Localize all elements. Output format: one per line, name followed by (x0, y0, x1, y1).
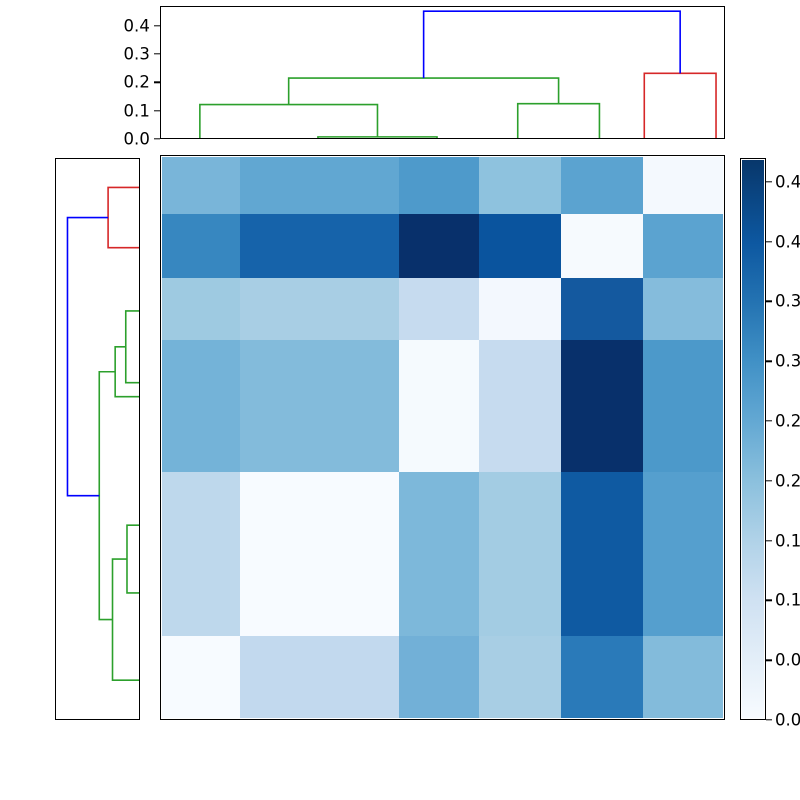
colorbar-tick-label: 0.10 (775, 591, 800, 610)
heatmap-cell (240, 340, 399, 472)
heatmap-cell (479, 214, 561, 278)
heatmap-cell (162, 472, 240, 636)
heatmap-cell (643, 472, 723, 636)
axis-tick-label: 0.1 (123, 101, 150, 120)
heatmap-cell (162, 157, 240, 214)
heatmap-cell (643, 636, 723, 717)
heatmap-cell (479, 340, 561, 472)
heatmap-cell (240, 636, 399, 717)
row-dendrogram-svg (56, 159, 139, 719)
colorbar-tick-mark (766, 540, 772, 541)
dendrogram-link (424, 11, 681, 78)
colorbar-tick-mark (766, 660, 772, 661)
heatmap-cell (399, 214, 479, 278)
heatmap-cell (399, 157, 479, 214)
column-dendrogram-svg (161, 7, 724, 138)
axis-tick-label: 0.0 (123, 130, 150, 149)
heatmap-cell (643, 157, 723, 214)
heatmap-cell (162, 636, 240, 717)
dendrogram-link (289, 78, 559, 104)
heatmap-cell (240, 157, 399, 214)
heatmap-panel (160, 155, 725, 720)
colorbar-tick-mark (766, 420, 772, 421)
colorbar-tick-label: 0.15 (775, 531, 800, 550)
heatmap-cell (561, 472, 643, 636)
heatmap-cell (479, 636, 561, 717)
heatmap-cell (399, 340, 479, 472)
heatmap-cell (240, 278, 399, 341)
row-dendrogram-panel (55, 158, 140, 720)
colorbar-tick-mark (766, 719, 772, 720)
dendrogram-link (200, 105, 378, 138)
dendrogram-link (113, 559, 139, 680)
colorbar-tick-mark (766, 480, 772, 481)
colorbar-tick-label: 0.25 (775, 412, 800, 431)
colorbar-ticks: 0.000.050.100.150.200.250.300.350.400.45 (766, 158, 800, 720)
axis-tick-label: 0.4 (123, 16, 150, 35)
dendrogram-link (115, 347, 139, 397)
heatmap-cell (561, 214, 643, 278)
colorbar-tick-label: 0.00 (775, 711, 800, 730)
heatmap-cell (561, 278, 643, 341)
heatmap-grid (162, 157, 722, 717)
clustermap-figure: 0.00.10.20.30.4 0.000.050.100.150.200.25… (0, 0, 800, 800)
colorbar-tick-label: 0.20 (775, 471, 800, 490)
colorbar-tick-mark (766, 301, 772, 302)
colorbar-tick-mark (766, 241, 772, 242)
heatmap-cell (479, 157, 561, 214)
heatmap-cell (162, 278, 240, 341)
heatmap-cell (643, 214, 723, 278)
dendrogram-link (518, 104, 600, 138)
heatmap-cell (162, 340, 240, 472)
heatmap-cell (479, 278, 561, 341)
heatmap-cell (399, 472, 479, 636)
column-dendrogram-panel (160, 6, 725, 139)
colorbar-gradient (742, 160, 764, 718)
heatmap-cell (561, 340, 643, 472)
colorbar-tick-label: 0.45 (775, 172, 800, 191)
colorbar-tick-mark (766, 181, 772, 182)
dendrogram-link (318, 137, 437, 138)
heatmap-cell (643, 340, 723, 472)
colorbar-tick-label: 0.30 (775, 352, 800, 371)
colorbar-tick-label: 0.35 (775, 292, 800, 311)
heatmap-cell (399, 636, 479, 717)
heatmap-cell (561, 636, 643, 717)
heatmap-cell (561, 157, 643, 214)
axis-tick-label: 0.3 (123, 45, 150, 64)
colorbar-tick-label: 0.40 (775, 232, 800, 251)
heatmap-cell (479, 472, 561, 636)
axis-tick-label: 0.2 (123, 73, 150, 92)
dendrogram-link (126, 311, 139, 383)
colorbar-tick-mark (766, 361, 772, 362)
col-dendrogram-yaxis: 0.00.10.20.30.4 (92, 6, 160, 139)
dendrogram-link (108, 187, 139, 247)
heatmap-cell (240, 472, 399, 636)
heatmap-cell (240, 214, 399, 278)
heatmap-cell (399, 278, 479, 341)
heatmap-cell (162, 214, 240, 278)
dendrogram-link (644, 73, 716, 138)
dendrogram-link (67, 218, 108, 496)
colorbar-tick-label: 0.05 (775, 651, 800, 670)
dendrogram-link (127, 525, 139, 593)
heatmap-cell (643, 278, 723, 341)
colorbar-panel (740, 158, 766, 720)
colorbar-tick-mark (766, 600, 772, 601)
